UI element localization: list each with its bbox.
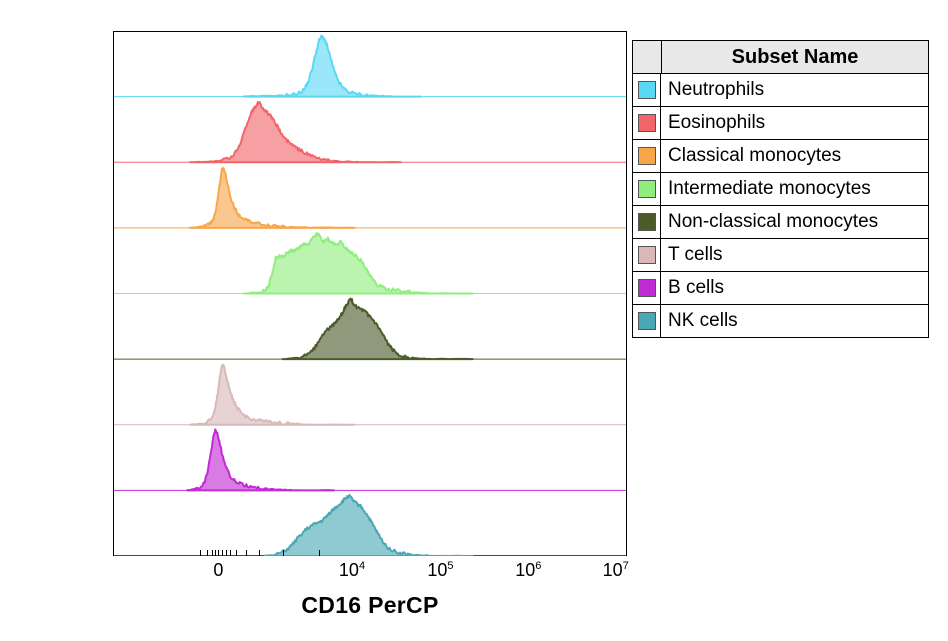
x-tick-label: 0 bbox=[213, 560, 223, 581]
x-tick-exponent: 5 bbox=[447, 560, 453, 572]
legend-title: Subset Name bbox=[662, 41, 928, 73]
legend-header: Subset Name bbox=[633, 41, 928, 74]
legend-color-swatch bbox=[638, 147, 656, 165]
legend-swatch-cell bbox=[633, 206, 661, 238]
legend-color-swatch bbox=[638, 213, 656, 231]
minor-tick-marks bbox=[113, 548, 627, 556]
legend-row[interactable]: NK cells bbox=[633, 305, 928, 337]
legend-item-label: Non-classical monocytes bbox=[661, 206, 928, 238]
minor-tick bbox=[212, 550, 213, 556]
legend-color-swatch bbox=[638, 114, 656, 132]
histogram-trace bbox=[265, 495, 473, 556]
legend-row[interactable]: Eosinophils bbox=[633, 107, 928, 140]
minor-tick bbox=[207, 550, 208, 556]
legend-swatch-cell bbox=[633, 74, 661, 106]
minor-tick bbox=[259, 550, 260, 556]
histogram-trace bbox=[190, 168, 354, 228]
histogram-trace bbox=[190, 365, 354, 425]
legend-row[interactable]: T cells bbox=[633, 239, 928, 272]
legend-row[interactable]: B cells bbox=[633, 272, 928, 305]
minor-tick bbox=[200, 550, 201, 556]
minor-tick bbox=[283, 550, 284, 556]
legend-item-label: Classical monocytes bbox=[661, 140, 928, 172]
legend-item-label: NK cells bbox=[661, 305, 928, 337]
legend-row[interactable]: Non-classical monocytes bbox=[633, 206, 928, 239]
legend-swatch-cell bbox=[633, 173, 661, 205]
histogram-trace bbox=[188, 429, 334, 490]
x-tick-label: 107 bbox=[603, 560, 629, 581]
legend-row[interactable]: Classical monocytes bbox=[633, 140, 928, 173]
legend-item-label: B cells bbox=[661, 272, 928, 304]
minor-tick bbox=[236, 550, 237, 556]
minor-tick bbox=[246, 550, 247, 556]
x-tick-label: 104 bbox=[339, 560, 365, 581]
histogram-trace bbox=[283, 299, 473, 360]
legend-item-label: Intermediate monocytes bbox=[661, 173, 928, 205]
ridgeline-traces bbox=[113, 31, 627, 556]
histogram-trace bbox=[244, 36, 421, 97]
histogram-trace bbox=[244, 233, 473, 293]
x-tick-label: 105 bbox=[427, 560, 453, 581]
minor-tick bbox=[226, 550, 227, 556]
legend-item-label: Eosinophils bbox=[661, 107, 928, 139]
histogram-trace bbox=[190, 102, 401, 162]
legend-panel: Subset Name NeutrophilsEosinophilsClassi… bbox=[632, 40, 929, 338]
minor-tick bbox=[319, 550, 320, 556]
minor-tick bbox=[218, 550, 219, 556]
legend-item-label: Neutrophils bbox=[661, 74, 928, 106]
legend-rows: NeutrophilsEosinophilsClassical monocyte… bbox=[633, 74, 928, 337]
legend-row[interactable]: Neutrophils bbox=[633, 74, 928, 107]
legend-color-swatch bbox=[638, 312, 656, 330]
legend-swatch-cell bbox=[633, 305, 661, 337]
legend-color-swatch bbox=[638, 279, 656, 297]
legend-color-swatch bbox=[638, 81, 656, 99]
legend-swatch-cell bbox=[633, 140, 661, 172]
x-tick-exponent: 7 bbox=[623, 560, 629, 572]
x-tick-exponent: 6 bbox=[535, 560, 541, 572]
legend-row[interactable]: Intermediate monocytes bbox=[633, 173, 928, 206]
legend-swatch-cell bbox=[633, 239, 661, 271]
flow-cytometry-figure: 0104105106107 CD16 PerCP Subset Name Neu… bbox=[0, 0, 948, 641]
minor-tick bbox=[222, 550, 223, 556]
minor-tick bbox=[215, 550, 216, 556]
legend-swatch-cell bbox=[633, 272, 661, 304]
x-tick-label: 106 bbox=[515, 560, 541, 581]
minor-tick bbox=[230, 550, 231, 556]
x-tick-exponent: 4 bbox=[359, 560, 365, 572]
legend-swatch-cell bbox=[633, 107, 661, 139]
legend-item-label: T cells bbox=[661, 239, 928, 271]
legend-color-swatch bbox=[638, 180, 656, 198]
x-axis-ticks: 0104105106107 bbox=[113, 556, 627, 596]
histogram-plot-area bbox=[113, 31, 627, 556]
x-axis-title: CD16 PerCP bbox=[113, 592, 627, 619]
legend-color-swatch bbox=[638, 246, 656, 264]
legend-header-swatch-cell bbox=[633, 41, 662, 73]
